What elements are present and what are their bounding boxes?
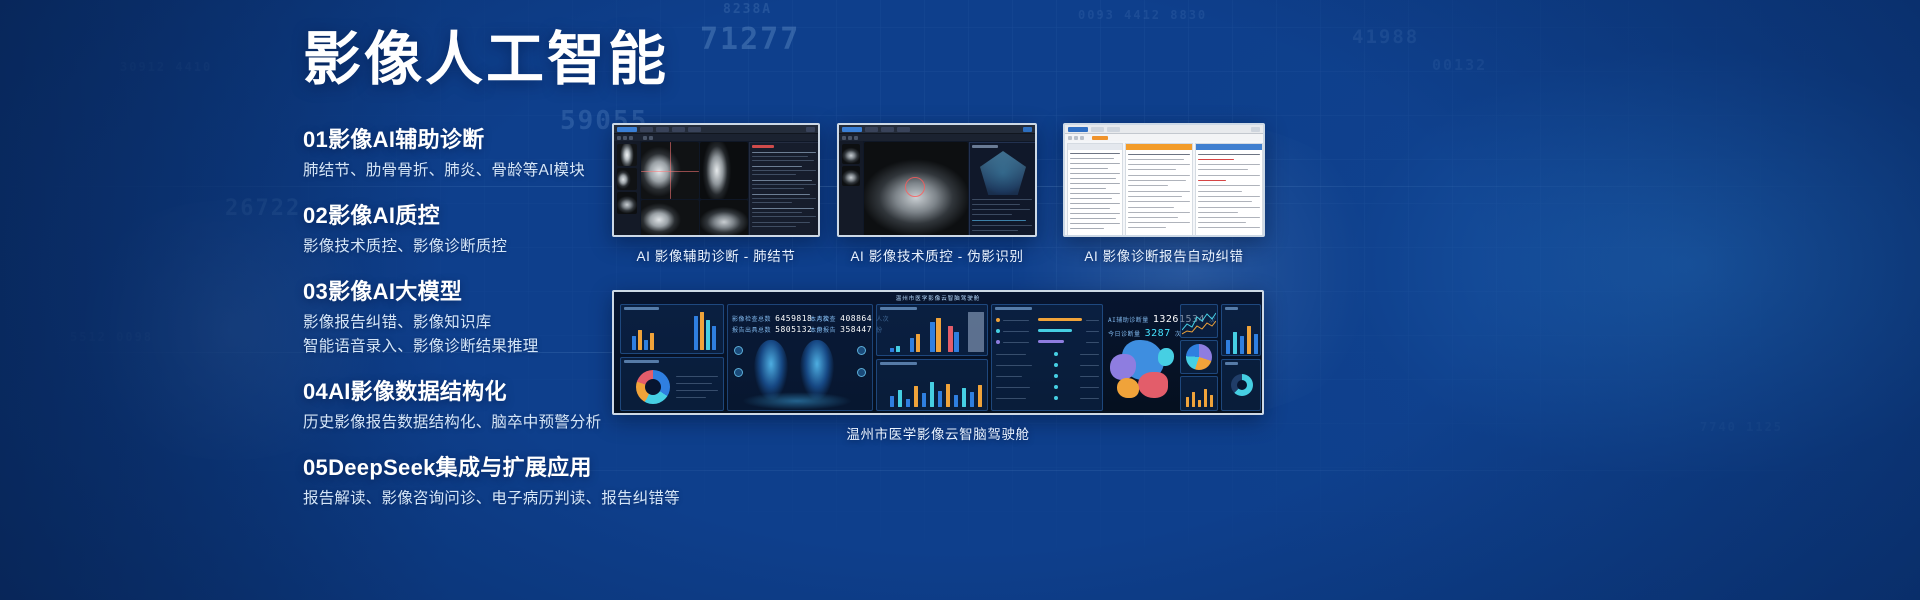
report-line — [1128, 227, 1166, 228]
analysis-header — [972, 145, 998, 148]
pie-chart — [1186, 344, 1212, 370]
kpi-value: 6459818 — [775, 314, 812, 323]
correction-line — [1198, 222, 1246, 223]
kpi-value: 408864 — [840, 314, 872, 323]
screenshot-gallery: AI 影像辅助诊断 - 肺结节 — [600, 0, 1920, 600]
screenshot-ai-diagnosis[interactable]: AI 影像辅助诊断 - 肺结节 — [612, 123, 820, 237]
findings-row — [752, 208, 814, 209]
toolbar-icon[interactable] — [617, 136, 621, 140]
chart-bar — [1192, 392, 1195, 407]
line-chart — [1182, 308, 1216, 336]
toolbar-icon[interactable] — [854, 136, 858, 140]
correction-line — [1198, 196, 1260, 197]
app-topbar — [1065, 125, 1263, 134]
chart-bar — [962, 388, 966, 407]
node-icon — [734, 346, 743, 355]
analysis-row — [972, 199, 1032, 200]
status-dot — [1054, 352, 1058, 356]
toolbar-icon[interactable] — [1074, 136, 1078, 140]
chart-bar — [898, 390, 902, 407]
findings-row — [752, 226, 796, 227]
chart-bar — [910, 338, 914, 352]
series-thumbnail[interactable] — [617, 144, 637, 166]
worklist-row — [1070, 198, 1112, 199]
kpi-today-diagnosis: 今日诊断量 3287 次 — [1108, 328, 1181, 339]
table-row — [996, 354, 1026, 355]
findings-row — [752, 184, 816, 185]
chart-bar — [1254, 334, 1258, 354]
node-icon — [857, 346, 866, 355]
worklist-header — [1068, 144, 1122, 150]
chart-bar — [1247, 326, 1251, 354]
card-title — [880, 362, 917, 365]
report-line — [1128, 201, 1190, 202]
worklist-row — [1070, 178, 1116, 179]
crosshair-line — [670, 142, 671, 199]
card-title — [880, 307, 917, 310]
findings-row — [752, 170, 816, 171]
screenshot-caption: AI 影像诊断报告自动纠错 — [1063, 245, 1265, 265]
dashboard-caption: 温州市医学影像云智脑驾驶舱 — [612, 423, 1264, 443]
app-tab[interactable] — [865, 127, 878, 132]
chart-bar — [978, 385, 982, 407]
findings-header — [752, 145, 774, 148]
app-tab[interactable] — [1107, 127, 1120, 132]
chart-bar — [916, 334, 920, 352]
table-row — [996, 387, 1030, 388]
app-logo — [1068, 127, 1088, 132]
dashboard-frame: 温州市医学影像云智脑驾驶舱 影像检 — [612, 290, 1264, 415]
region-map-shape[interactable] — [1138, 372, 1168, 398]
screenshot-caption: AI 影像技术质控 - 伪影识别 — [837, 245, 1037, 265]
report-line — [1128, 175, 1190, 176]
worklist-row — [1070, 223, 1120, 224]
legend-dot — [996, 329, 1000, 333]
status-dot — [1054, 374, 1058, 378]
body-base-glow — [742, 392, 852, 410]
correction-line — [1198, 201, 1252, 202]
correction-line-error — [1198, 159, 1234, 160]
node-icon — [857, 368, 866, 377]
dashboard-header-title: 温州市医学影像云智脑驾驶舱 — [614, 294, 1262, 302]
app-topbar — [839, 125, 1035, 134]
findings-row — [752, 194, 810, 195]
analysis-row — [972, 220, 1026, 221]
findings-row — [752, 166, 802, 167]
kpi-label: 本月检查 — [810, 316, 836, 323]
card-title — [1225, 362, 1238, 365]
correction-header-bar — [1196, 144, 1262, 150]
findings-row — [752, 198, 816, 199]
report-line — [1128, 164, 1190, 165]
table-value — [1080, 365, 1099, 366]
card-title — [1225, 307, 1238, 310]
chart-bar — [946, 384, 950, 407]
worklist-row — [1070, 193, 1120, 194]
ranking-label — [1003, 320, 1029, 321]
toolbar-icon[interactable] — [649, 136, 653, 140]
screenshot-ai-quality-control[interactable]: AI 影像技术质控 - 伪影识别 — [837, 123, 1037, 237]
chart-bar — [1210, 395, 1213, 407]
chart-bar — [1204, 389, 1207, 407]
chart-bar — [890, 348, 894, 352]
correction-line — [1198, 169, 1248, 170]
worklist-row — [1070, 188, 1106, 189]
findings-row — [752, 188, 804, 189]
worklist-row — [1070, 203, 1120, 204]
chart-bar — [906, 399, 910, 407]
chart-bar — [712, 326, 716, 350]
worklist-row — [1070, 213, 1120, 214]
ranking-label — [1003, 342, 1029, 343]
worklist-row — [1070, 163, 1120, 164]
series-thumbnail[interactable] — [617, 192, 637, 214]
kpi-label: 影像检查总数 — [732, 316, 771, 323]
chart-bar — [914, 386, 918, 407]
chart-bar — [930, 382, 934, 407]
report-line — [1128, 169, 1176, 170]
series-thumbnail[interactable] — [842, 144, 860, 164]
report-line — [1128, 212, 1190, 213]
worklist-row — [1070, 218, 1116, 219]
chart-bar — [930, 322, 935, 352]
toolbar-icon[interactable] — [848, 136, 852, 140]
correction-line — [1198, 164, 1260, 165]
analysis-row — [972, 225, 1032, 226]
ranking-bar — [1038, 318, 1082, 321]
chart-bar — [1186, 397, 1189, 407]
app-tab[interactable] — [897, 127, 910, 132]
table-row — [996, 398, 1026, 399]
report-line — [1128, 207, 1174, 208]
app-tab[interactable] — [1251, 127, 1260, 132]
app-toolbar — [1065, 134, 1263, 141]
screenshot-frame — [837, 123, 1037, 237]
findings-row — [752, 152, 816, 153]
chart-bar — [938, 391, 942, 407]
card-title — [624, 307, 659, 310]
kpi-value: 3287 — [1145, 328, 1171, 339]
ranking-value — [1086, 320, 1099, 321]
app-topbar — [614, 125, 818, 134]
report-line — [1128, 222, 1190, 223]
findings-row — [752, 160, 814, 161]
chart-bar — [706, 320, 710, 350]
analysis-row — [972, 204, 1020, 205]
chart-bar — [644, 340, 648, 350]
correction-line — [1198, 207, 1260, 208]
human-body-visual — [800, 340, 834, 400]
worklist-row — [1070, 158, 1114, 159]
chart-bar — [650, 333, 654, 350]
card-title — [995, 307, 1032, 310]
findings-row — [752, 216, 816, 217]
legend-dot — [996, 318, 1000, 322]
ranking-bar — [1038, 329, 1072, 332]
worklist-row — [1070, 228, 1104, 229]
legend-row — [676, 376, 718, 377]
findings-row — [752, 212, 802, 213]
analysis-row — [972, 214, 1012, 215]
findings-row — [752, 222, 810, 223]
gauge-hole — [1237, 380, 1247, 390]
chart-bar — [700, 312, 704, 350]
app-logo — [617, 127, 637, 132]
region-map-shape[interactable] — [1158, 348, 1174, 366]
worklist-row — [1070, 173, 1120, 174]
app-tab[interactable] — [881, 127, 894, 132]
legend-row — [676, 397, 706, 398]
donut-hole — [645, 379, 661, 395]
kpi-label: 本月报告 — [810, 327, 836, 334]
correction-line — [1198, 191, 1242, 192]
kpi-label: AI辅助诊断量 — [1108, 317, 1149, 324]
toolbar-icon[interactable] — [1068, 136, 1072, 140]
table-value — [1080, 398, 1099, 399]
table-value — [1080, 387, 1099, 388]
toolbar-icon[interactable] — [623, 136, 627, 140]
correction-line — [1198, 217, 1260, 218]
app-tab[interactable] — [656, 127, 669, 132]
correction-line — [1198, 175, 1260, 176]
screenshot-frame — [1063, 123, 1265, 237]
correction-line — [1198, 227, 1260, 228]
chart-bar — [954, 332, 959, 352]
chart-bar — [1226, 340, 1230, 354]
chart-bar — [632, 336, 636, 350]
report-line — [1128, 180, 1186, 181]
chart-bar — [948, 326, 953, 352]
toolbar-icon[interactable] — [629, 136, 633, 140]
region-map-shape[interactable] — [1117, 378, 1139, 398]
report-line — [1128, 159, 1184, 160]
toolbar-accent — [1092, 136, 1108, 140]
app-toolbar — [839, 134, 1035, 141]
worklist-row — [1070, 168, 1108, 169]
findings-row — [752, 156, 808, 157]
analysis-row — [972, 209, 1030, 210]
series-thumbnail[interactable] — [842, 166, 860, 186]
ranking-bar — [1038, 340, 1064, 343]
artifact-marker — [905, 177, 925, 197]
app-tab[interactable] — [688, 127, 701, 132]
chart-bar — [1240, 336, 1244, 354]
worklist-row — [1070, 153, 1120, 154]
chart-bar — [890, 396, 894, 407]
analysis-row — [972, 230, 1018, 231]
status-dot — [1054, 396, 1058, 400]
legend-row — [676, 383, 712, 384]
toolbar-icon[interactable] — [1080, 136, 1084, 140]
screenshot-ai-report-correction[interactable]: AI 影像诊断报告自动纠错 — [1063, 123, 1265, 237]
series-thumbnail[interactable] — [617, 168, 637, 190]
ranking-label — [1003, 331, 1029, 332]
chart-bar — [968, 312, 984, 352]
table-row — [996, 365, 1032, 366]
app-tab[interactable] — [1091, 127, 1104, 132]
ct-coronal-viewport[interactable] — [700, 142, 748, 199]
app-tab[interactable] — [1023, 127, 1032, 132]
correction-line — [1198, 185, 1260, 186]
chart-bar — [954, 395, 958, 407]
legend-dot — [996, 340, 1000, 344]
findings-row — [752, 202, 792, 203]
report-line — [1128, 154, 1190, 155]
card-title — [624, 360, 659, 363]
correction-line — [1198, 154, 1260, 155]
chart-bar — [896, 346, 900, 352]
chart-bar — [936, 318, 941, 352]
table-value — [1080, 376, 1099, 377]
app-tab[interactable] — [640, 127, 653, 132]
toolbar-icon[interactable] — [643, 136, 647, 140]
findings-row — [752, 180, 812, 181]
report-line — [1128, 217, 1178, 218]
correction-line — [1198, 212, 1238, 213]
table-value — [1080, 354, 1099, 355]
report-line — [1128, 196, 1182, 197]
kpi-label: 报告出具总数 — [732, 327, 771, 334]
report-line — [1128, 191, 1190, 192]
worklist-row — [1070, 183, 1120, 184]
status-dot — [1054, 363, 1058, 367]
node-icon — [734, 368, 743, 377]
chart-bar — [922, 393, 926, 407]
legend-row — [676, 390, 718, 391]
worklist-row — [1070, 208, 1110, 209]
human-body-visual — [754, 340, 788, 400]
screenshot-caption: AI 影像辅助诊断 - 肺结节 — [612, 245, 820, 265]
chart-bar — [1198, 400, 1201, 407]
kpi-label: 今日诊断量 — [1108, 331, 1141, 338]
correction-line-error — [1198, 180, 1226, 181]
kpi-value: 5805132 — [775, 325, 812, 334]
ct-sagittal-viewport[interactable] — [700, 200, 748, 237]
chart-bar — [1233, 332, 1237, 354]
kpi-value: 358447 — [840, 325, 872, 334]
ranking-value — [1086, 331, 1099, 332]
report-header-bar — [1126, 144, 1192, 150]
ct-axial-viewport-2[interactable] — [641, 200, 699, 237]
screenshot-dashboard[interactable]: 温州市医学影像云智脑驾驶舱 影像检 — [612, 290, 1264, 415]
screenshot-frame — [612, 123, 820, 237]
toolbar-icon[interactable] — [842, 136, 846, 140]
app-tab[interactable] — [806, 127, 815, 132]
report-line — [1128, 185, 1168, 186]
chart-bar — [970, 392, 974, 407]
chart-bar — [694, 316, 698, 350]
status-dot — [1054, 385, 1058, 389]
app-toolbar — [614, 134, 818, 141]
kpi-monthly-report: 本月报告 358447 份 — [810, 325, 883, 334]
app-logo — [842, 127, 862, 132]
app-tab[interactable] — [672, 127, 685, 132]
findings-row — [752, 174, 796, 175]
chart-bar — [638, 330, 642, 350]
ranking-value — [1086, 342, 1099, 343]
table-row — [996, 376, 1022, 377]
